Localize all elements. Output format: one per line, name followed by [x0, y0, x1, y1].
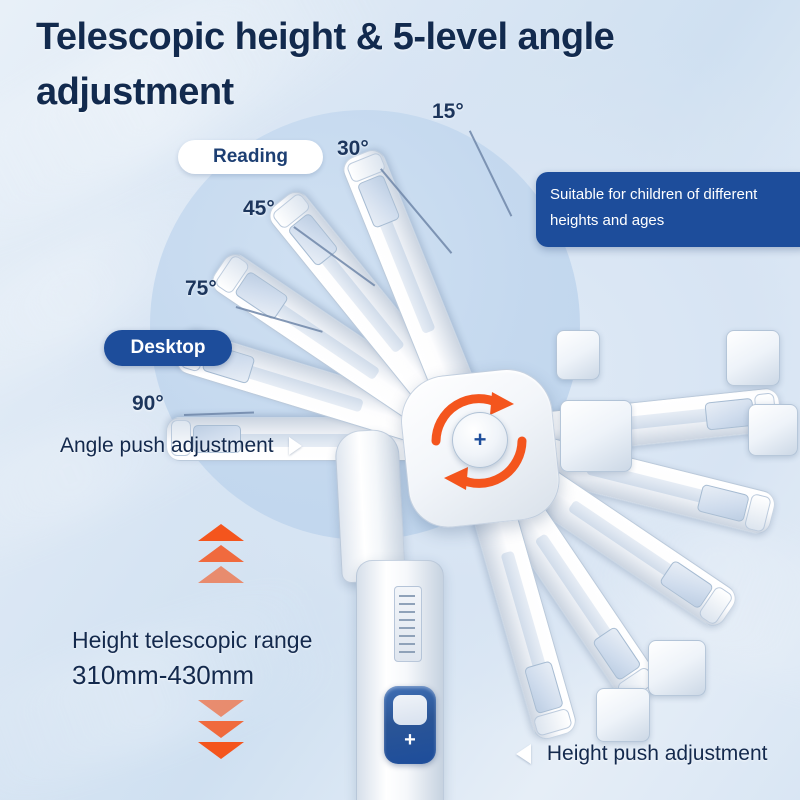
height-down-arrows-icon [198, 700, 244, 763]
angle-label-75: 75° [185, 277, 217, 301]
angle-adjust-knob[interactable]: + [452, 412, 508, 468]
audience-note: Suitable for children of different heigh… [536, 172, 800, 247]
badge-desktop: Desktop [104, 330, 232, 366]
telescopic-scale [394, 586, 422, 662]
hinge-detail [560, 400, 632, 472]
badge-reading: Reading [178, 140, 323, 174]
height-range-title: Height telescopic range [72, 624, 312, 657]
clamp-bracket [556, 330, 600, 380]
clamp-bracket [726, 330, 780, 386]
height-button-symbol: + [404, 729, 416, 752]
product-poster: + + Telescopic height & 5-level angle ad… [0, 0, 800, 800]
page-title: Telescopic height & 5-level angle adjust… [36, 10, 776, 120]
clamp-bracket [648, 640, 706, 696]
height-push-callout: Height push adjustment [516, 742, 767, 766]
button-cap [393, 695, 427, 725]
arm-panel [357, 174, 401, 229]
clamp-bracket [596, 688, 650, 742]
clamp-bracket [748, 404, 798, 456]
height-push-label: Height push adjustment [547, 742, 768, 765]
angle-push-callout: Angle push adjustment [60, 434, 302, 458]
arm-panel [524, 660, 564, 714]
arm-panel [696, 484, 749, 523]
height-range-value: 310mm-430mm [72, 657, 312, 695]
height-up-arrows-icon [198, 524, 244, 587]
angle-label-15: 15° [432, 100, 464, 124]
arrow-right-icon [289, 437, 302, 455]
angle-push-label: Angle push adjustment [60, 434, 274, 457]
angle-label-30: 30° [337, 137, 369, 161]
height-range-callout: Height telescopic range 310mm-430mm [72, 624, 312, 695]
arrow-left-icon [516, 744, 531, 764]
angle-label-90: 90° [132, 392, 164, 416]
height-adjust-button[interactable]: + [384, 686, 436, 764]
angle-label-45: 45° [243, 197, 275, 221]
